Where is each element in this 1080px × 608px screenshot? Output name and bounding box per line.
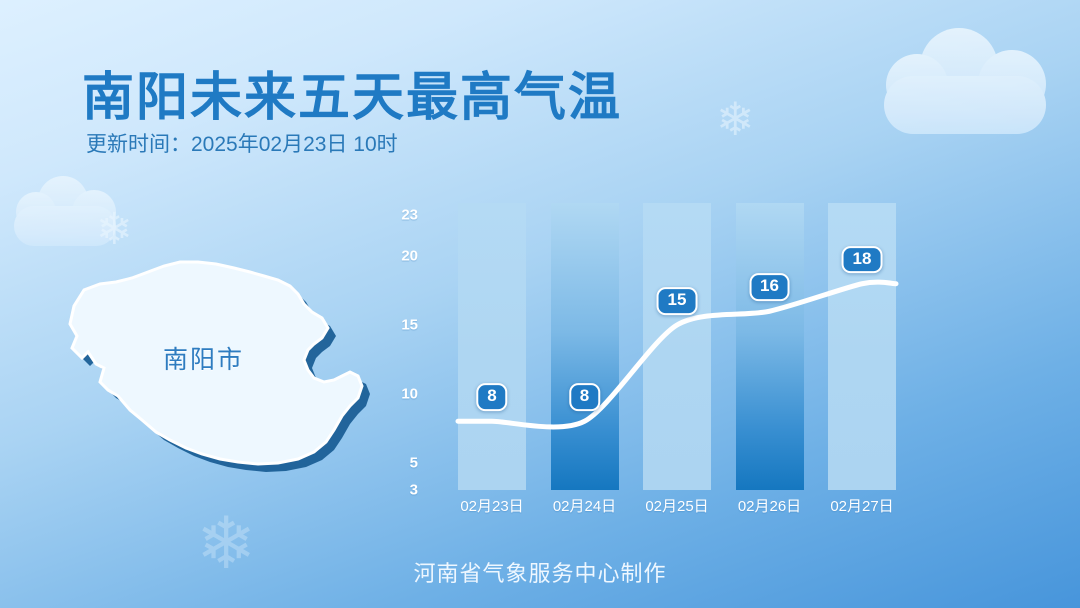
chart-bar: [736, 203, 804, 490]
temperature-value-badge: 8: [476, 383, 507, 411]
temperature-chart: 2320151053 02月23日02月24日02月25日02月26日02月27…: [410, 200, 1030, 510]
infographic-canvas: ❄ ❄ ❄ 南阳未来五天最高气温 更新时间：2025年02月23日 10时 南阳…: [0, 0, 1080, 608]
snowflake-icon: ❄: [716, 96, 755, 142]
chart-bar: [643, 203, 711, 490]
cloud-icon: [880, 28, 1050, 140]
x-axis-tick-label: 02月27日: [802, 495, 922, 516]
chart-bar: [551, 203, 619, 490]
y-axis-tick-label: 5: [378, 454, 418, 471]
y-axis-tick-label: 23: [378, 207, 418, 224]
temperature-value-badge: 16: [749, 273, 790, 301]
footer-credit: 河南省气象服务中心制作: [0, 556, 1080, 588]
temperature-value-badge: 8: [569, 383, 600, 411]
temperature-value-badge: 15: [657, 287, 698, 315]
update-time-text: 更新时间：2025年02月23日 10时: [86, 128, 398, 158]
map-city-label: 南阳市: [163, 340, 244, 376]
y-axis-tick-label: 3: [378, 482, 418, 499]
y-axis-tick-label: 15: [378, 317, 418, 334]
y-axis-tick-label: 20: [378, 248, 418, 265]
temperature-value-badge: 18: [842, 246, 883, 274]
chart-bar: [458, 203, 526, 490]
y-axis-tick-label: 10: [378, 385, 418, 402]
page-title: 南阳未来五天最高气温: [82, 55, 622, 130]
